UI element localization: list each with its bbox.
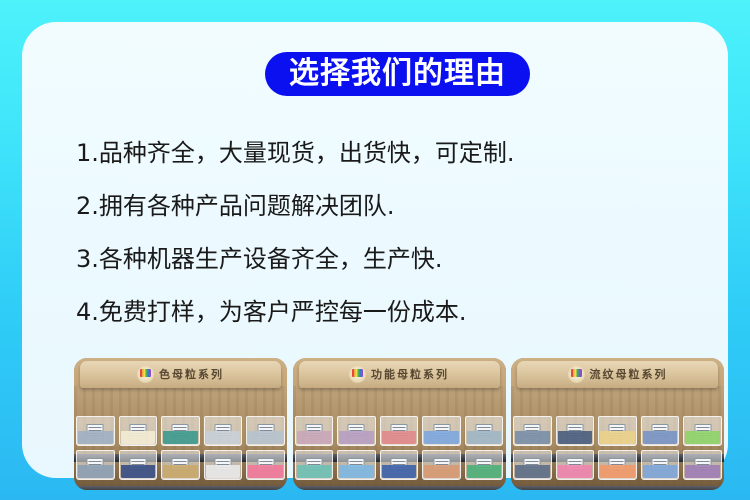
bin-row-bottom: [76, 450, 285, 480]
shelf-scene: 色母粒系列: [74, 358, 287, 490]
pellet-bin: [295, 450, 334, 480]
bin-row-top: [295, 416, 504, 446]
bin-label-icon: [652, 424, 669, 436]
pellet-bin: [380, 416, 419, 446]
bin-label-icon: [348, 424, 365, 436]
rainbow-circle-logo-icon: [349, 366, 366, 383]
product-photo-2: 功能母粒系列: [293, 358, 506, 490]
pellet-bin: [204, 450, 243, 480]
pellet-bin: [246, 450, 285, 480]
pellet-bin: [598, 416, 637, 446]
bin-label-icon: [566, 424, 583, 436]
pellet-bin: [337, 416, 376, 446]
pellet-bin: [556, 450, 595, 480]
bin-label-icon: [390, 458, 407, 470]
pellet-bin: [598, 450, 637, 480]
bin-label-icon: [305, 458, 322, 470]
shelf-sign-3: 流纹母粒系列: [517, 361, 718, 388]
pellet-bin: [683, 450, 722, 480]
shelf-scene: 功能母粒系列: [293, 358, 506, 490]
pellet-bin: [119, 450, 158, 480]
bin-label-icon: [433, 458, 450, 470]
product-photo-1: 色母粒系列: [74, 358, 287, 490]
shelf-sign-1: 色母粒系列: [80, 361, 281, 388]
pellet-bin: [641, 416, 680, 446]
pellet-bin: [513, 416, 552, 446]
shelf-board: [293, 486, 506, 490]
list-item: 2.拥有各种产品问题解决团队.: [76, 179, 696, 232]
title-badge: 选择我们的理由: [265, 52, 530, 96]
bin-row-top: [513, 416, 722, 446]
reason-text-3: 3.各种机器生产设备齐全，生产快.: [76, 247, 443, 271]
pellet-bin: [513, 450, 552, 480]
bin-label-icon: [566, 458, 583, 470]
bin-row-bottom: [513, 450, 722, 480]
bin-label-icon: [129, 424, 146, 436]
promo-poster: 选择我们的理由 1.品种齐全，大量现货，出货快，可定制. 2.拥有各种产品问题解…: [0, 0, 750, 500]
bin-label-icon: [524, 424, 541, 436]
shelf-sign-label-3: 流纹母粒系列: [590, 369, 668, 380]
pellet-bin: [641, 450, 680, 480]
pellet-bin: [161, 416, 200, 446]
shelf-sign-2: 功能母粒系列: [299, 361, 500, 388]
rainbow-circle-logo-icon: [568, 366, 585, 383]
list-item: 3.各种机器生产设备齐全，生产快.: [76, 232, 696, 285]
product-photo-strip: 色母粒系列: [74, 358, 724, 490]
bin-label-icon: [609, 424, 626, 436]
bin-label-icon: [694, 458, 711, 470]
shelf-sign-label-2: 功能母粒系列: [371, 369, 449, 380]
bin-row-bottom: [295, 450, 504, 480]
bin-label-icon: [257, 424, 274, 436]
bin-label-icon: [215, 458, 232, 470]
pellet-bin: [556, 416, 595, 446]
shelf-scene: 流纹母粒系列: [511, 358, 724, 490]
product-photo-3: 流纹母粒系列: [511, 358, 724, 490]
bin-label-icon: [390, 424, 407, 436]
bin-label-icon: [609, 458, 626, 470]
reason-text-1: 1.品种齐全，大量现货，出货快，可定制.: [76, 141, 515, 165]
bin-label-icon: [215, 424, 232, 436]
pellet-bin: [683, 416, 722, 446]
reasons-list: 1.品种齐全，大量现货，出货快，可定制. 2.拥有各种产品问题解决团队. 3.各…: [76, 126, 696, 338]
reason-text-2: 2.拥有各种产品问题解决团队.: [76, 194, 395, 218]
shelf-board: [511, 486, 724, 490]
shelf-sign-label-1: 色母粒系列: [159, 369, 224, 380]
bin-label-icon: [87, 424, 104, 436]
bin-label-icon: [305, 424, 322, 436]
reason-text-4: 4.免费打样，为客户严控每一份成本.: [76, 300, 467, 324]
bin-label-icon: [87, 458, 104, 470]
pellet-bin: [380, 450, 419, 480]
rainbow-circle-logo-icon: [137, 366, 154, 383]
pellet-bin: [204, 416, 243, 446]
pellet-bin: [76, 416, 115, 446]
content-panel: 选择我们的理由 1.品种齐全，大量现货，出货快，可定制. 2.拥有各种产品问题解…: [22, 22, 728, 478]
bin-label-icon: [129, 458, 146, 470]
pellet-bin: [422, 450, 461, 480]
bin-label-icon: [433, 424, 450, 436]
pellet-bin: [161, 450, 200, 480]
bin-label-icon: [524, 458, 541, 470]
pellet-bin: [465, 416, 504, 446]
pellet-bin: [422, 416, 461, 446]
pellet-bin: [76, 450, 115, 480]
pellet-bin: [119, 416, 158, 446]
list-item: 1.品种齐全，大量现货，出货快，可定制.: [76, 126, 696, 179]
pellet-bin: [295, 416, 334, 446]
list-item: 4.免费打样，为客户严控每一份成本.: [76, 285, 696, 338]
pellet-bin: [337, 450, 376, 480]
pellet-bin: [465, 450, 504, 480]
bin-label-icon: [348, 458, 365, 470]
pellet-bin: [246, 416, 285, 446]
bin-row-top: [76, 416, 285, 446]
bin-label-icon: [476, 424, 493, 436]
shelf-board: [74, 486, 287, 490]
bin-label-icon: [476, 458, 493, 470]
bin-label-icon: [694, 424, 711, 436]
page-title: 选择我们的理由: [289, 59, 506, 89]
bin-label-icon: [172, 458, 189, 470]
bin-label-icon: [172, 424, 189, 436]
bin-label-icon: [652, 458, 669, 470]
bin-label-icon: [257, 458, 274, 470]
